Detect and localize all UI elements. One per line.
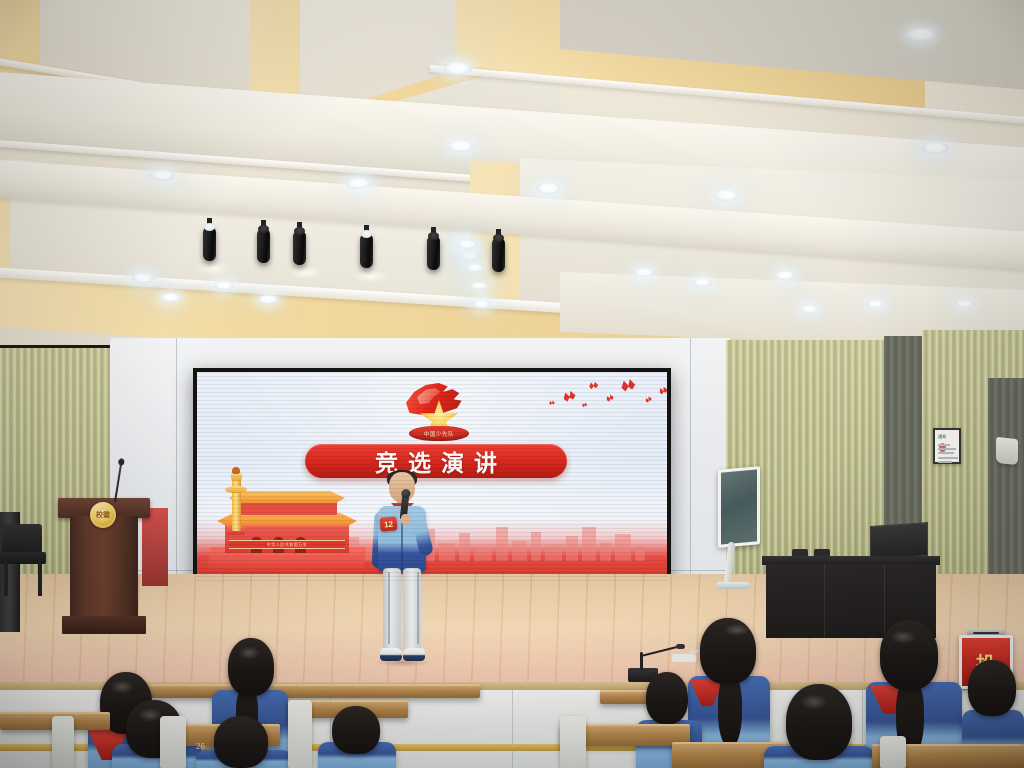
hair-highlight: [138, 708, 162, 722]
ceiling-downlight: [470, 282, 488, 290]
trouser-stripe: [417, 572, 419, 644]
skyline-building: [600, 543, 611, 561]
skyline-building: [566, 536, 578, 561]
hair-highlight: [238, 646, 260, 660]
track-spotlight[interactable]: [427, 236, 440, 270]
wall-notice-title: 通知: [938, 434, 947, 440]
student-head: [646, 672, 688, 724]
skyline-building: [474, 547, 492, 561]
presenter-right-shoe: [403, 648, 425, 661]
mobile-display-board[interactable]: [718, 468, 764, 568]
wall-notice-line: [938, 448, 956, 450]
chair-leg: [38, 562, 42, 596]
ceiling-downlight: [447, 140, 474, 152]
ceiling-downlight: [955, 300, 974, 308]
table-divider: [824, 564, 825, 638]
ceiling-downlight: [921, 142, 949, 154]
student-presenter[interactable]: 12: [371, 472, 433, 668]
podium-red-panel: [142, 508, 168, 586]
tiananmen-illustration: 中华人民共和国万岁: [203, 465, 383, 575]
school-emblem-text: 校徽: [95, 507, 111, 523]
auditorium-bench[interactable]: [150, 684, 480, 698]
display-board-foot: [716, 582, 750, 589]
presenter-hand: [401, 514, 410, 525]
wall-notice-line: [938, 461, 952, 463]
track-spotlight[interactable]: [360, 234, 373, 268]
ceiling-downlight: [693, 278, 712, 287]
ceiling-downlight: [634, 268, 654, 277]
bench-armrest: [560, 716, 586, 768]
skyline-building: [531, 532, 541, 561]
skyline-building: [512, 541, 527, 561]
huabiao-beast-icon: [232, 467, 240, 474]
ceiling-downlight: [160, 293, 181, 302]
ceiling-downlight: [150, 170, 175, 181]
track-spotlight[interactable]: [257, 229, 270, 263]
candidate-number: 12: [384, 519, 394, 529]
wall-notice-line: [938, 457, 958, 459]
wall-notice-sign: 通知: [933, 428, 961, 464]
tiananmen-banner-text: 中华人民共和国万岁: [229, 541, 345, 548]
hair-highlight: [890, 630, 916, 644]
tiananmen-banner: 中华人民共和国万岁: [229, 540, 345, 549]
ceiling-downlight: [536, 183, 561, 194]
spotlight-lens-icon: [204, 223, 215, 231]
bench-armrest: [160, 716, 186, 768]
skyline-building: [439, 543, 455, 561]
wall-notice-line: [938, 452, 954, 454]
student-head: [968, 660, 1016, 716]
flame-icon: [406, 383, 464, 417]
display-board-panel: [718, 466, 760, 548]
coffered-ceiling: [0, 0, 1024, 345]
ceiling-downlight: [457, 240, 477, 249]
mic-capsule-icon: [676, 644, 685, 649]
huabiao-disc: [224, 486, 247, 493]
ceiling-downlight: [473, 300, 490, 308]
spotlight-lens-icon: [361, 230, 372, 238]
presenter-left-shoe: [380, 648, 402, 661]
skyline-building: [459, 533, 470, 561]
spotlight-lens-icon: [294, 227, 305, 235]
ceiling-downlight: [466, 264, 484, 272]
track-spotlight[interactable]: [293, 231, 306, 265]
ceiling-downlight: [132, 273, 154, 283]
trouser-stripe: [388, 572, 390, 644]
podium-base: [62, 616, 146, 634]
audience-student: [318, 706, 396, 768]
student-head: [332, 706, 380, 754]
spotlight-lens-icon: [493, 234, 504, 242]
ceiling-downlight: [800, 305, 819, 313]
ceiling-downlight: [258, 295, 278, 304]
emblem-ribbon: 中国少先队: [409, 426, 469, 441]
hair-highlight: [800, 694, 828, 710]
side-chair: [0, 524, 46, 596]
auditorium-scene: 通知: [0, 0, 1024, 768]
skyline-building: [545, 545, 562, 561]
spotlight-lens-icon: [428, 232, 439, 240]
chair-back: [2, 524, 42, 554]
skyline-building: [582, 527, 596, 561]
wall-mounted-speaker: [996, 437, 1018, 465]
ceiling-downlight: [443, 62, 472, 75]
tiananmen-upper-body: [237, 501, 337, 515]
bench-armrest: [52, 716, 74, 768]
slide-title-banner: 竞选演讲: [305, 444, 567, 478]
emblem-ribbon-text: 中国少先队: [424, 430, 455, 438]
audience-student: [196, 716, 292, 768]
skyline-building: [496, 527, 508, 561]
skyline-building: [635, 546, 645, 561]
chair-leg: [4, 562, 8, 596]
school-emblem-icon: 校徽: [90, 502, 116, 528]
skyline-building: [615, 534, 631, 561]
podium-body: [70, 516, 138, 620]
equipment-open-lid: [870, 522, 928, 560]
bench-armrest: [880, 736, 906, 768]
stage-front-seam: [512, 690, 513, 768]
spotlight-lens-icon: [258, 225, 269, 233]
ceiling-downlight: [460, 252, 479, 260]
candidate-number-badge: 12: [379, 516, 397, 531]
student-ponytail: [718, 674, 742, 748]
hair-highlight: [724, 624, 750, 636]
ceiling-downlight: [346, 178, 371, 189]
ceiling-downlight: [866, 300, 885, 308]
speaker-podium[interactable]: 校徽: [58, 498, 150, 636]
huabiao-column: [225, 467, 247, 531]
hair-highlight: [110, 680, 134, 694]
wall-notice-line: [938, 444, 950, 446]
ceiling-downlight: [714, 190, 739, 201]
track-spotlight[interactable]: [203, 227, 216, 261]
track-spotlight[interactable]: [492, 238, 505, 272]
young-pioneers-emblem: 中国少先队: [403, 383, 475, 445]
presenter-left-leg: [383, 568, 401, 650]
spotlight-glow: [353, 270, 389, 283]
student-head: [214, 716, 268, 768]
spotlight-glow: [196, 262, 232, 275]
audience-student: [764, 684, 874, 768]
ceiling-downlight: [775, 271, 795, 280]
spotlight-glow: [288, 266, 324, 279]
ceiling-downlight: [214, 281, 234, 290]
bench-armrest: [288, 700, 312, 768]
ceiling-downlight: [906, 28, 936, 41]
